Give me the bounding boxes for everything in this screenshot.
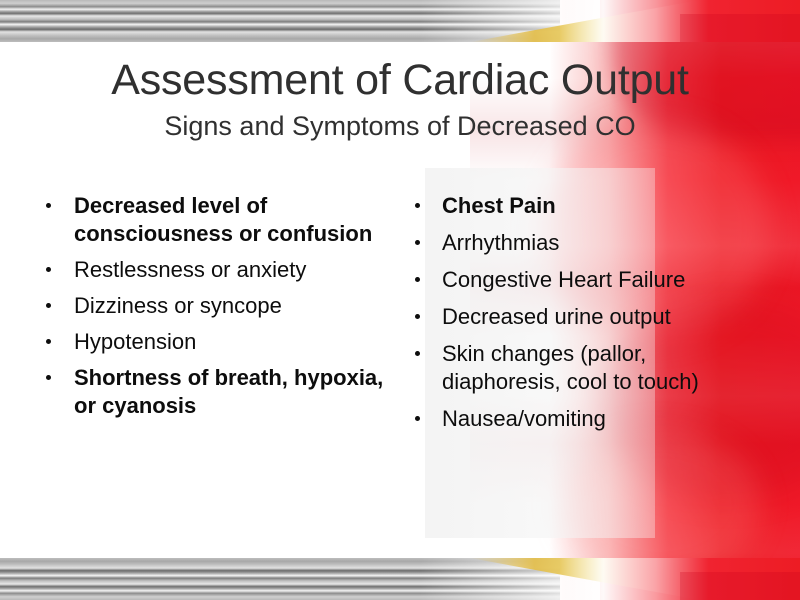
bullet-dot-icon: [415, 203, 420, 208]
bullet-item: Congestive Heart Failure: [408, 266, 763, 294]
bullet-item: Arrhythmias: [408, 229, 763, 257]
bullet-item: Chest Pain: [408, 192, 763, 220]
bullet-dot-icon: [46, 203, 51, 208]
bullet-item-label: Dizziness or syncope: [74, 292, 388, 320]
presentation-slide: Assessment of Cardiac Output Signs and S…: [0, 0, 800, 600]
bullet-dot-icon: [415, 351, 420, 356]
bullet-item-label: Congestive Heart Failure: [442, 266, 763, 294]
bullet-item: Hypotension: [38, 328, 388, 356]
bullet-dot-icon: [415, 314, 420, 319]
bullet-dot-icon: [46, 339, 51, 344]
bullet-column-right: Chest PainArrhythmiasCongestive Heart Fa…: [408, 192, 763, 442]
title-block: Assessment of Cardiac Output Signs and S…: [0, 54, 800, 143]
bullet-item-label: Shortness of breath, hypoxia, or cyanosi…: [74, 364, 388, 420]
bullet-item: Decreased urine output: [408, 303, 763, 331]
bullet-dot-icon: [46, 303, 51, 308]
bullet-list-right: Chest PainArrhythmiasCongestive Heart Fa…: [408, 192, 763, 433]
bullet-column-left: Decreased level of consciousness or conf…: [38, 192, 388, 428]
bottom-decorative-band: [0, 558, 800, 600]
bullet-item-label: Decreased urine output: [442, 303, 763, 331]
bullet-dot-icon: [46, 267, 51, 272]
bullet-item-label: Decreased level of consciousness or conf…: [74, 192, 388, 248]
bullet-item-label: Nausea/vomiting: [442, 405, 763, 433]
top-decorative-band: [0, 0, 800, 42]
bullet-item-label: Hypotension: [74, 328, 388, 356]
bullet-item: Skin changes (pallor, diaphoresis, cool …: [408, 340, 763, 396]
bullet-item: Nausea/vomiting: [408, 405, 763, 433]
bullet-item: Dizziness or syncope: [38, 292, 388, 320]
bullet-list-left: Decreased level of consciousness or conf…: [38, 192, 388, 420]
bullet-dot-icon: [415, 416, 420, 421]
band-red-shadow: [680, 14, 800, 42]
bullet-item: Decreased level of consciousness or conf…: [38, 192, 388, 248]
slide-title: Assessment of Cardiac Output: [0, 54, 800, 106]
slide-subtitle: Signs and Symptoms of Decreased CO: [0, 109, 800, 143]
bullet-item-label: Chest Pain: [442, 192, 763, 220]
bullet-item: Restlessness or anxiety: [38, 256, 388, 284]
band-red-shadow: [680, 572, 800, 600]
bullet-item-label: Skin changes (pallor, diaphoresis, cool …: [442, 340, 763, 396]
bullet-item: Shortness of breath, hypoxia, or cyanosi…: [38, 364, 388, 420]
bullet-item-label: Arrhythmias: [442, 229, 763, 257]
bullet-dot-icon: [46, 375, 51, 380]
bullet-dot-icon: [415, 277, 420, 282]
bullet-item-label: Restlessness or anxiety: [74, 256, 388, 284]
bullet-dot-icon: [415, 240, 420, 245]
